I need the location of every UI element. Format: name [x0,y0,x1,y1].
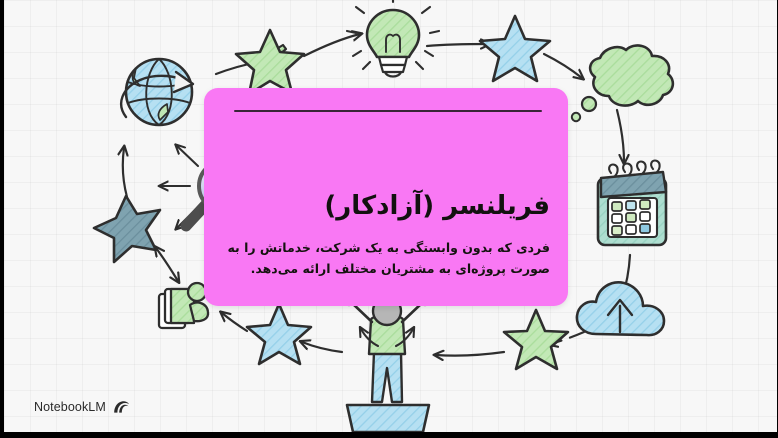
lightbulb-icon [347,0,439,77]
star-blue-top-right-icon [480,16,550,81]
profile-card-icon [159,283,208,328]
person-podium-icon [343,293,431,432]
cloud-upload-icon [577,282,664,335]
card-title: فریلنسر (آزادکار) [220,192,550,222]
card-divider [234,110,542,112]
notebooklm-logo-icon [113,400,130,414]
letterbox-bar-left [0,0,4,438]
notebooklm-watermark: NotebookLM [34,400,130,414]
star-blue-bottom-left-icon [247,304,311,364]
definition-card: فریلنسر (آزادکار) فردی که بدون وابستگی ب… [204,88,568,306]
star-green-top-left-icon [236,30,304,94]
watermark-label: NotebookLM [34,400,106,414]
slide-canvas: فریلنسر (آزادکار) فردی که بدون وابستگی ب… [4,0,777,432]
star-teal-left-icon [94,196,160,262]
thought-bubble-icon [572,45,673,121]
letterbox-bar-bottom [0,432,778,438]
video-frame: فریلنسر (آزادکار) فردی که بدون وابستگی ب… [0,0,778,438]
card-body-text: فردی که بدون وابستگی به یک شرکت، خدماتش … [220,238,550,279]
calendar-icon [598,161,666,245]
star-green-bottom-right-icon [504,310,568,369]
